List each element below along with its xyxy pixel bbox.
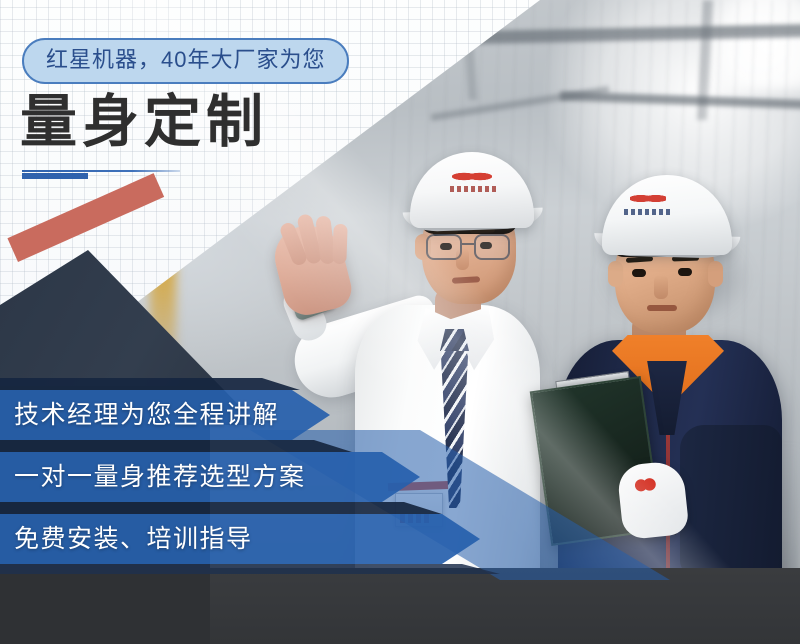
title-underline	[22, 170, 182, 179]
feature-bar-3: 免费安装、培训指导	[0, 514, 480, 564]
page-title: 量身定制	[20, 94, 268, 151]
feature-bar-1-label: 技术经理为您全程讲解	[0, 403, 279, 428]
bar-separator	[0, 502, 442, 514]
bar-separator	[0, 564, 500, 574]
promo-banner: 红星机器，40年大厂家为您 量身定制 技术经理为您全程讲解 一对一量身推荐选型方…	[0, 0, 800, 644]
feature-bar-1: 技术经理为您全程讲解	[0, 390, 330, 440]
bar-separator	[0, 378, 300, 390]
feature-bar-2-label: 一对一量身推荐选型方案	[0, 465, 306, 490]
tagline-badge-text: 红星机器，40年大厂家为您	[46, 49, 325, 71]
bar-separator	[0, 440, 352, 452]
underline-thin	[22, 170, 180, 172]
tagline-badge: 红星机器，40年大厂家为您	[22, 38, 349, 84]
feature-bar-3-label: 免费安装、培训指导	[0, 527, 253, 552]
underline-thick	[22, 173, 88, 179]
feature-bar-2: 一对一量身推荐选型方案	[0, 452, 420, 502]
